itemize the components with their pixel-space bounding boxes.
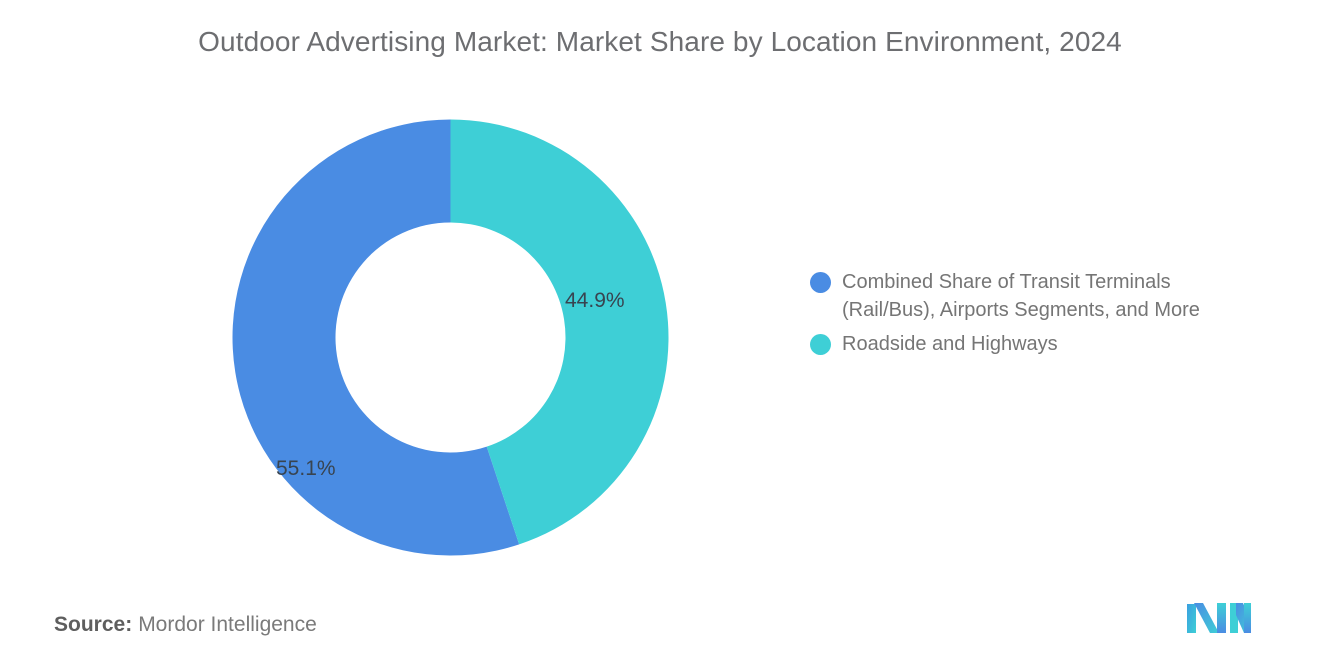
slice-value-label-combined-transit: 55.1% [276, 457, 336, 481]
donut-chart-svg [232, 119, 669, 556]
legend-item-label: Roadside and Highways [842, 330, 1058, 358]
mordor-intelligence-logo-icon [1186, 599, 1252, 637]
chart-legend: Combined Share of Transit Terminals (Rai… [810, 268, 1280, 364]
source-attribution: Source:Mordor Intelligence [54, 613, 317, 637]
logo-svg [1186, 599, 1252, 637]
slice-value-label-roadside-highways: 44.9% [565, 289, 625, 313]
legend-item-roadside-highways[interactable]: Roadside and Highways [810, 330, 1280, 358]
source-value: Mordor Intelligence [138, 613, 317, 636]
page-title: Outdoor Advertising Market: Market Share… [0, 26, 1320, 58]
legend-swatch-icon [810, 334, 831, 355]
legend-item-combined-transit[interactable]: Combined Share of Transit Terminals (Rai… [810, 268, 1280, 324]
donut-chart: 55.1% 44.9% [232, 119, 669, 556]
source-label: Source: [54, 613, 132, 636]
legend-swatch-icon [810, 272, 831, 293]
legend-item-label: Combined Share of Transit Terminals (Rai… [842, 268, 1247, 324]
